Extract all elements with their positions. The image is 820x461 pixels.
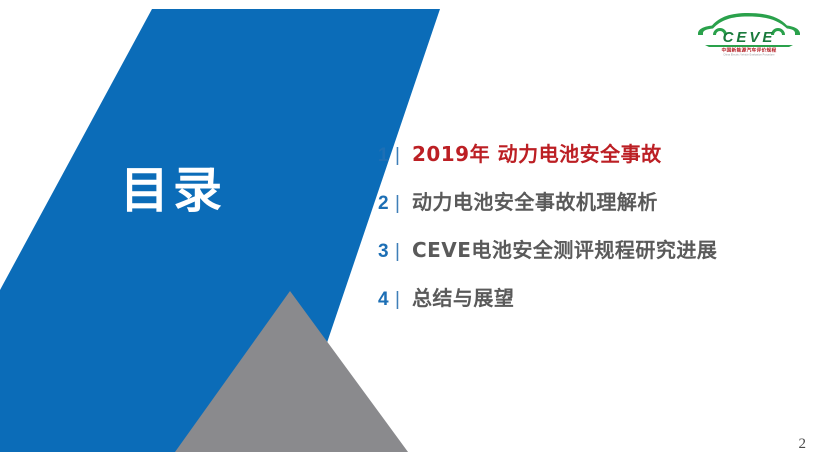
agenda-item-1-separator: | [395, 145, 400, 167]
ceve-wordmark: CEVE [723, 29, 776, 46]
agenda-item-2-number: 2 [378, 193, 392, 215]
logo-underline [705, 45, 793, 47]
agenda-item-3-separator: | [395, 241, 400, 263]
agenda-item-2-label: 动力电池安全事故机理解析 [412, 186, 658, 215]
slide-canvas: 目录 1 | 2019年 动力电池安全事故 2 | 动力电池安全事故机理解析 3… [0, 0, 820, 461]
agenda-item-2[interactable]: 2 | 动力电池安全事故机理解析 [378, 186, 798, 234]
ceve-logo: CEVE 中国新能源汽车评价规程 China Electric Vehicle … [694, 10, 804, 56]
ceve-english-name: China Electric Vehicle Evaluation Proced… [723, 54, 775, 57]
agenda-item-4-separator: | [395, 289, 400, 311]
gray-triangle [175, 291, 408, 452]
agenda-item-4-label: 总结与展望 [412, 282, 515, 311]
agenda-list: 1 | 2019年 动力电池安全事故 2 | 动力电池安全事故机理解析 3 | … [378, 138, 798, 330]
agenda-item-1[interactable]: 1 | 2019年 动力电池安全事故 [378, 138, 798, 186]
ceve-chinese-name: 中国新能源汽车评价规程 [721, 47, 776, 54]
agenda-item-3[interactable]: 3 | CEVE电池安全测评规程研究进展 [378, 234, 798, 282]
agenda-item-4[interactable]: 4 | 总结与展望 [378, 282, 798, 330]
ceve-logo-icon: CEVE 中国新能源汽车评价规程 China Electric Vehicle … [694, 10, 804, 56]
page-title: 目录 [120, 166, 226, 215]
agenda-item-2-separator: | [395, 193, 400, 215]
agenda-item-3-label: CEVE电池安全测评规程研究进展 [412, 234, 717, 263]
page-number: 2 [799, 436, 807, 453]
agenda-item-1-label: 2019年 动力电池安全事故 [412, 138, 662, 167]
agenda-item-1-number: 1 [378, 145, 392, 167]
agenda-item-4-number: 4 [378, 289, 392, 311]
blue-parallelogram [0, 9, 440, 452]
agenda-item-3-number: 3 [378, 241, 392, 263]
